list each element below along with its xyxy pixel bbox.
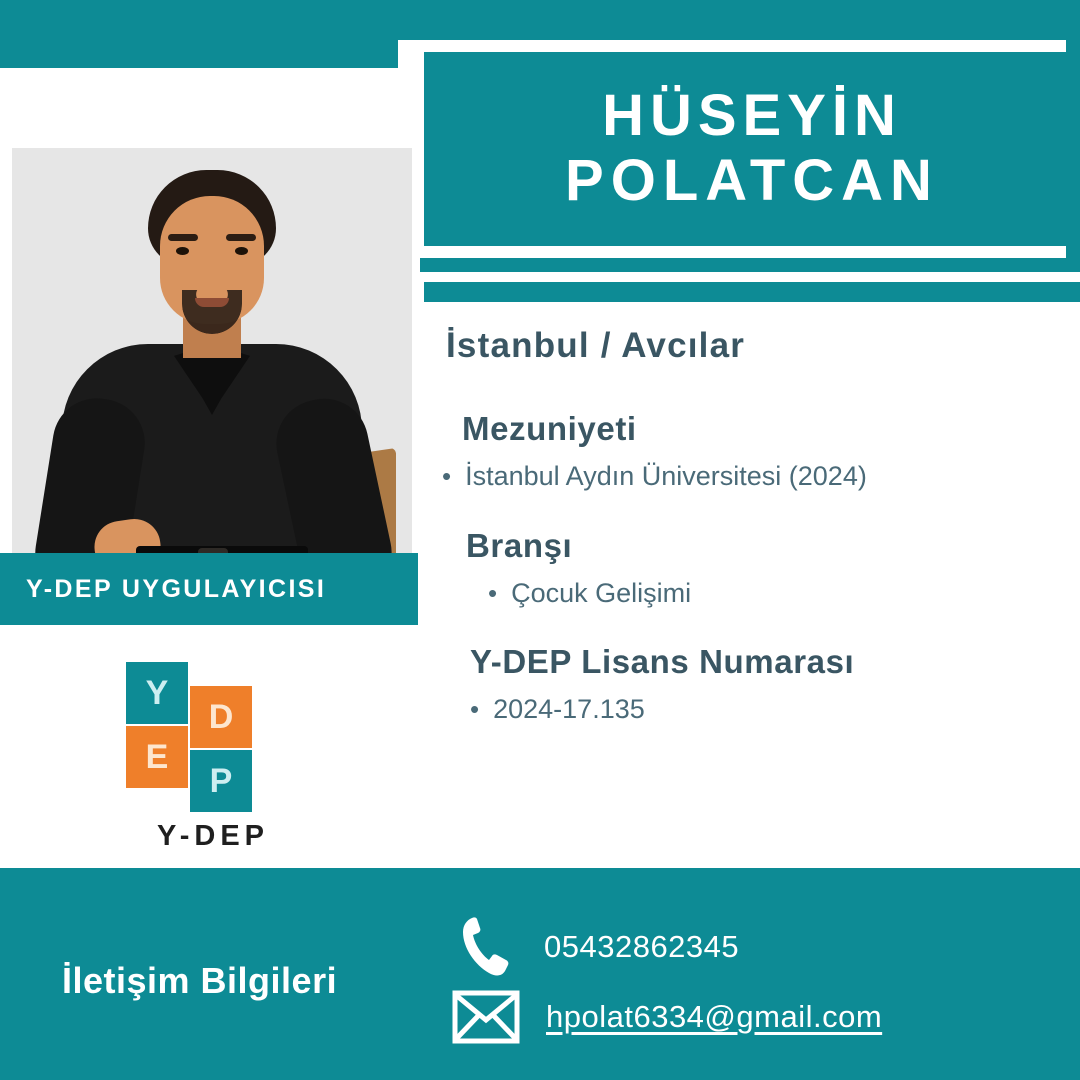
mouth-shape (195, 298, 229, 307)
envelope-icon (452, 990, 520, 1044)
email-row[interactable]: hpolat6334@gmail.com (452, 990, 882, 1044)
name-plate: HÜSEYİN POLATCAN (424, 52, 1080, 246)
list-item: • Çocuk Gelişimi (488, 573, 1064, 614)
phone-number: 05432862345 (544, 929, 739, 965)
education-item-text: İstanbul Aydın Üniversitesi (2024) (465, 456, 867, 497)
license-heading: Y-DEP Lisans Numarası (470, 643, 1064, 681)
branch-heading: Branşı (466, 527, 1064, 565)
contact-footer-title: İletişim Bilgileri (62, 960, 337, 1002)
education-list: • İstanbul Aydın Üniversitesi (2024) (442, 456, 1064, 497)
right-eye-shape (235, 247, 248, 255)
role-badge: Y-DEP UYGULAYICISI (0, 553, 418, 625)
education-heading: Mezuniyeti (462, 410, 1064, 448)
left-eyebrow-shape (168, 234, 198, 241)
email-address[interactable]: hpolat6334@gmail.com (546, 999, 882, 1035)
branch-item-text: Çocuk Gelişimi (511, 573, 691, 614)
name-separator-bar (424, 282, 1080, 302)
first-name: HÜSEYİN (602, 84, 902, 149)
photo-frame (0, 68, 420, 628)
profile-photo (12, 148, 412, 618)
phone-icon (458, 914, 518, 980)
profile-card: HÜSEYİN POLATCAN Y-DEP UYGULAYICISI (0, 0, 1080, 1080)
details-column: İstanbul / Avcılar Mezuniyeti • İstanbul… (424, 326, 1064, 760)
ydep-logo: Y D E P Y-DEP (118, 660, 308, 820)
license-list: • 2024-17.135 (470, 689, 1064, 730)
bullet-icon: • (470, 696, 479, 722)
logo-tile-e: E (126, 726, 188, 788)
bullet-icon: • (442, 463, 451, 489)
contact-footer: İletişim Bilgileri 05432862345 hpolat633… (0, 868, 1080, 1080)
left-eye-shape (176, 247, 189, 255)
branch-list: • Çocuk Gelişimi (488, 573, 1064, 614)
right-eyebrow-shape (226, 234, 256, 241)
phone-row[interactable]: 05432862345 (458, 914, 739, 980)
logo-tile-p: P (190, 750, 252, 812)
logo-wordmark: Y-DEP (118, 820, 308, 853)
list-item: • 2024-17.135 (470, 689, 1064, 730)
last-name: POLATCAN (565, 149, 939, 214)
logo-tile-y: Y (126, 662, 188, 724)
logo-tile-d: D (190, 686, 252, 748)
role-badge-label: Y-DEP UYGULAYICISI (0, 575, 326, 604)
license-item-text: 2024-17.135 (493, 689, 645, 730)
location-text: İstanbul / Avcılar (446, 326, 1064, 366)
list-item: • İstanbul Aydın Üniversitesi (2024) (442, 456, 1064, 497)
bullet-icon: • (488, 580, 497, 606)
